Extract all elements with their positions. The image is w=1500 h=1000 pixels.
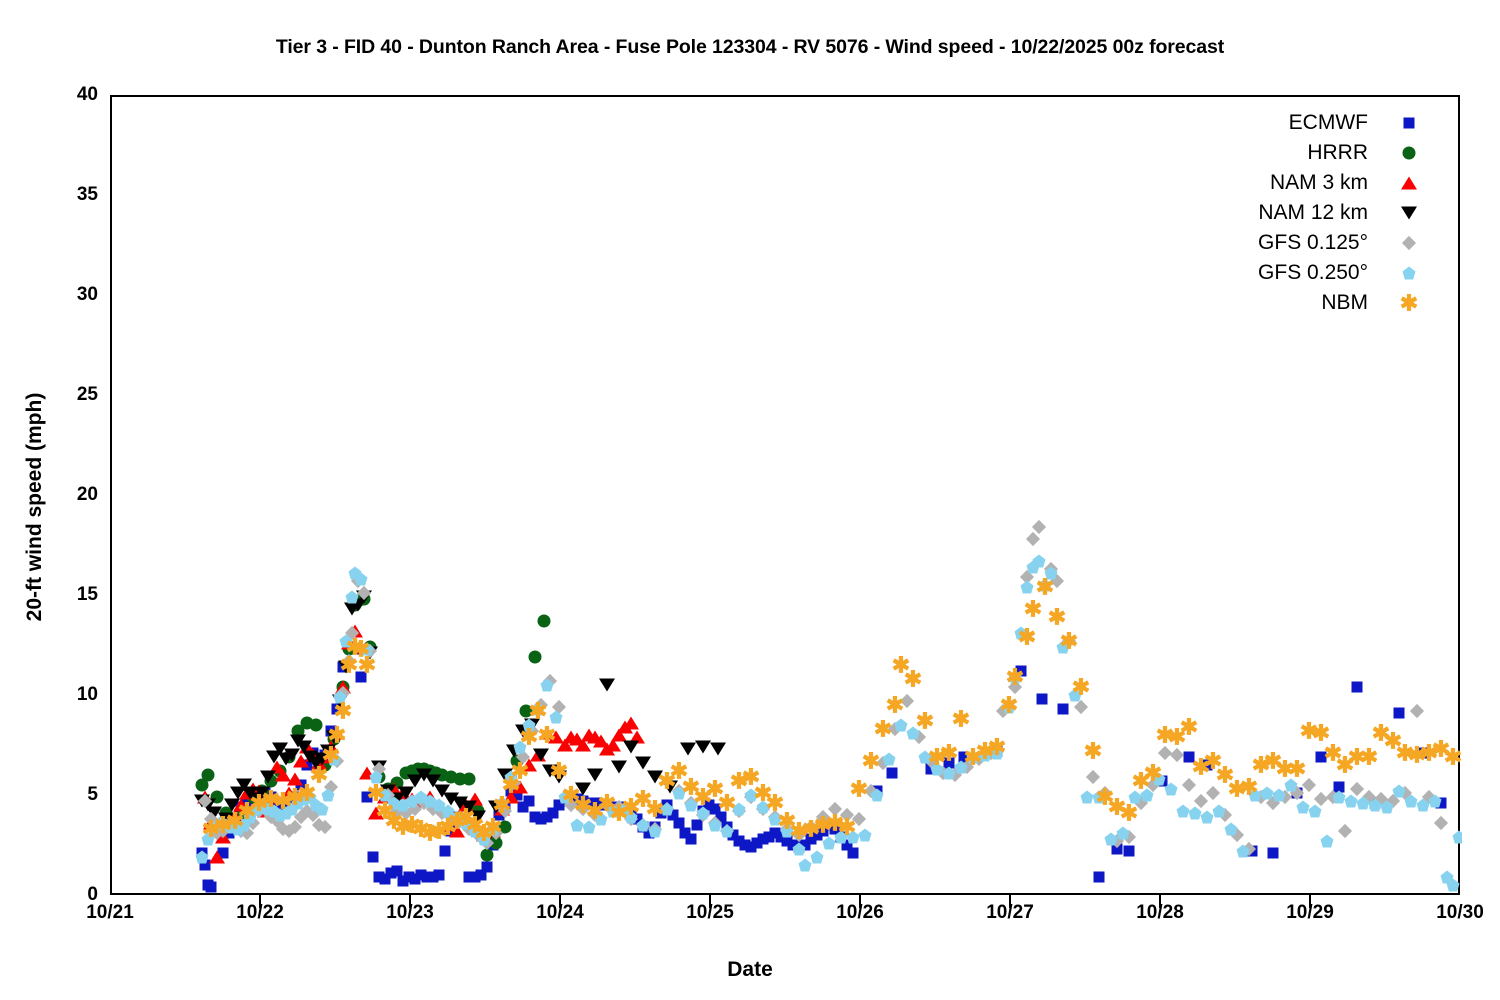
y-tick-label: 25 [38,384,98,406]
marker-asterisk: ✱ [850,780,869,799]
marker-circle [1403,147,1416,160]
marker-asterisk: ✱ [952,710,971,729]
marker-asterisk: ✱ [550,762,569,781]
legend-item-nbm[interactable]: NBM✱ [1150,288,1420,318]
marker-triangle-down [1401,207,1417,220]
marker-asterisk: ✱ [1288,760,1307,779]
marker-asterisk: ✱ [1072,678,1091,697]
marker-asterisk: ✱ [862,752,881,771]
marker-asterisk: ✱ [1060,632,1079,651]
legend-label: GFS 0.125° [1258,231,1398,255]
marker-asterisk: ✱ [646,800,665,819]
marker-asterisk: ✱ [358,656,377,675]
y-tick-label: 5 [38,784,98,806]
x-tick-mark [409,895,411,908]
y-tick-label: 40 [38,84,98,106]
x-tick-mark [259,895,261,908]
marker-triangle-up [1401,177,1417,190]
page-title: Tier 3 - FID 40 - Dunton Ranch Area - Fu… [0,36,1500,59]
x-tick-label: 10/21 [86,902,134,924]
marker-asterisk: ✱ [1024,600,1043,619]
legend-swatch-triangle-down-icon [1398,202,1420,224]
y-tick-label: 30 [38,284,98,306]
marker-asterisk: ✱ [1240,778,1259,797]
marker-asterisk: ✱ [1400,294,1419,313]
marker-pentagon [1403,267,1416,280]
chart-legend: ECMWFHRRRNAM 3 kmNAM 12 kmGFS 0.125°GFS … [1150,108,1420,318]
marker-asterisk: ✱ [322,746,341,765]
x-tick-mark [1309,895,1311,908]
legend-label: HRRR [1307,141,1398,165]
y-tick-label: 15 [38,584,98,606]
marker-square [1404,118,1415,129]
marker-asterisk: ✱ [838,818,857,837]
marker-asterisk: ✱ [328,726,347,745]
y-axis-label: 20-ft wind speed (mph) [23,127,47,887]
marker-asterisk: ✱ [1000,696,1019,715]
legend-label: NAM 3 km [1270,171,1398,195]
marker-asterisk: ✱ [520,728,539,747]
y-tick-label: 35 [38,184,98,206]
x-tick-label: 10/30 [1436,902,1484,924]
legend-item-gfs-0-250[interactable]: GFS 0.250° [1150,258,1420,288]
marker-asterisk: ✱ [940,744,959,763]
x-tick-mark [709,895,711,908]
chart-page: Tier 3 - FID 40 - Dunton Ranch Area - Fu… [0,0,1500,1000]
marker-asterisk: ✱ [916,712,935,731]
legend-item-nam-12-km[interactable]: NAM 12 km [1150,198,1420,228]
legend-label: GFS 0.250° [1258,261,1398,285]
marker-asterisk: ✱ [1120,804,1139,823]
y-tick-label: 20 [38,484,98,506]
legend-label: ECMWF [1289,111,1398,135]
marker-asterisk: ✱ [904,670,923,689]
x-tick-mark [559,895,561,908]
marker-asterisk: ✱ [493,796,512,815]
x-tick-mark [1159,895,1161,908]
legend-swatch-asterisk-icon: ✱ [1398,292,1420,314]
marker-asterisk: ✱ [1036,578,1055,597]
marker-asterisk: ✱ [1048,608,1067,627]
marker-asterisk: ✱ [1018,628,1037,647]
legend-item-gfs-0-125[interactable]: GFS 0.125° [1150,228,1420,258]
marker-asterisk: ✱ [1360,748,1379,767]
marker-asterisk: ✱ [484,818,503,837]
marker-asterisk: ✱ [1084,742,1103,761]
marker-asterisk: ✱ [886,696,905,715]
legend-item-ecmwf[interactable]: ECMWF [1150,108,1420,138]
x-tick-mark [1009,895,1011,908]
x-tick-mark [859,895,861,908]
marker-asterisk: ✱ [511,762,530,781]
legend-label: NBM [1321,291,1398,315]
legend-swatch-diamond-icon [1398,232,1420,254]
marker-asterisk: ✱ [1444,748,1463,767]
legend-swatch-pentagon-icon [1398,262,1420,284]
marker-asterisk: ✱ [1180,718,1199,737]
marker-asterisk: ✱ [310,766,329,785]
marker-asterisk: ✱ [874,720,893,739]
legend-item-hrrr[interactable]: HRRR [1150,138,1420,168]
legend-item-nam-3-km[interactable]: NAM 3 km [1150,168,1420,198]
y-tick-label: 10 [38,684,98,706]
marker-asterisk: ✱ [1144,764,1163,783]
marker-diamond [1402,236,1416,250]
legend-label: NAM 12 km [1258,201,1398,225]
legend-swatch-circle-icon [1398,142,1420,164]
marker-asterisk: ✱ [718,794,737,813]
marker-asterisk: ✱ [334,702,353,721]
marker-asterisk: ✱ [1006,668,1025,687]
legend-swatch-square-icon [1398,112,1420,134]
legend-swatch-triangle-up-icon [1398,172,1420,194]
x-axis-label: Date [0,958,1500,982]
marker-asterisk: ✱ [538,726,557,745]
marker-asterisk: ✱ [988,738,1007,757]
marker-asterisk: ✱ [529,702,548,721]
